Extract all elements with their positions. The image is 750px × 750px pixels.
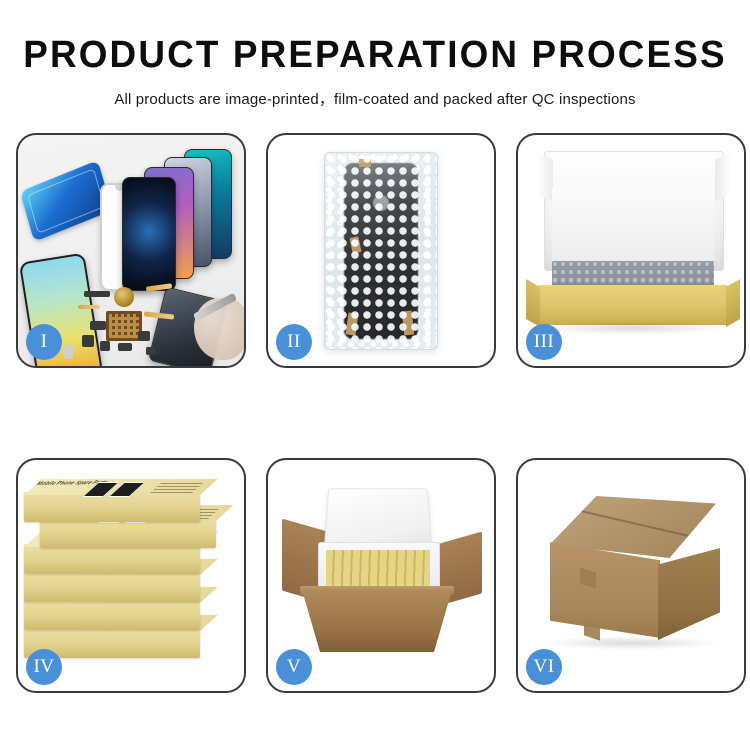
- stacked-box-4: [24, 572, 200, 602]
- process-step-card-3: III: [516, 133, 746, 368]
- flex-cable-3: [78, 305, 100, 309]
- process-step-grid: I II: [16, 133, 746, 693]
- page-subtitle: All products are image-printed，film-coat…: [0, 88, 750, 109]
- carton-side-face: [658, 548, 720, 640]
- phone-dark-display: [122, 177, 176, 291]
- stacked-box-2: Mobile Phone Spare Parts: [40, 518, 216, 548]
- box-stack: Mobile Phone Spare Parts Mobile Phone Sp…: [24, 478, 238, 678]
- chip-part-6: [138, 331, 150, 341]
- stacked-box-1: Mobile Phone Spare Parts: [24, 492, 200, 522]
- drop-shadow: [540, 321, 726, 335]
- product-preparation-infographic: PRODUCT PREPARATION PROCESS All products…: [0, 0, 750, 750]
- circuit-board-part: [106, 311, 142, 341]
- step-badge-6: VI: [526, 649, 562, 685]
- sealed-shipping-carton: [540, 496, 726, 646]
- chip-part-3: [82, 335, 94, 347]
- yellow-box-base: [538, 285, 728, 325]
- chip-part-2: [90, 321, 106, 330]
- stacked-box-5: [24, 600, 200, 630]
- step-badge-5: V: [276, 649, 312, 685]
- chip-part-4: [100, 341, 110, 351]
- foam-insert: [552, 187, 714, 261]
- yellow-boxes-inside: [326, 550, 430, 590]
- process-step-card-5: V: [266, 458, 496, 693]
- page-title: PRODUCT PREPARATION PROCESS: [11, 36, 739, 76]
- chip-part-8: [64, 345, 73, 359]
- header: PRODUCT PREPARATION PROCESS All products…: [0, 0, 750, 109]
- carton-front-face: [550, 542, 660, 638]
- chip-part-5: [118, 343, 132, 351]
- tape-piece-top: [359, 159, 371, 167]
- carton-base: [302, 590, 452, 652]
- speaker-coil-part: [114, 287, 134, 307]
- chip-part-7: [146, 347, 156, 355]
- drop-shadow: [542, 636, 722, 650]
- step-badge-1: I: [26, 324, 62, 360]
- process-step-card-1: I: [16, 133, 246, 368]
- bubble-wrap-package: [324, 152, 438, 350]
- carton-seam: [572, 508, 709, 541]
- chip-part-1: [84, 291, 110, 297]
- step-badge-3: III: [526, 324, 562, 360]
- process-step-card-6: VI: [516, 458, 746, 693]
- step-badge-2: II: [276, 324, 312, 360]
- step-badge-4: IV: [26, 649, 62, 685]
- process-step-card-4: Mobile Phone Spare Parts Mobile Phone Sp…: [16, 458, 246, 693]
- stacked-box-3: [24, 544, 200, 574]
- process-step-card-2: II: [266, 133, 496, 368]
